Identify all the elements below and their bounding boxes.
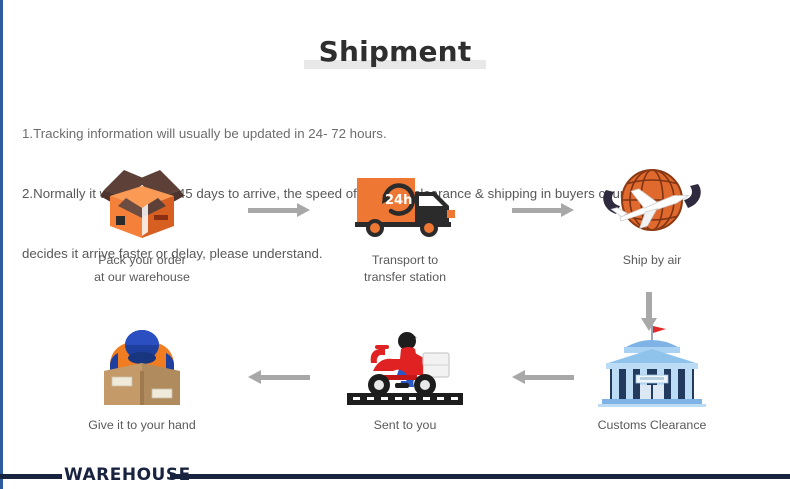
step-caption-line-1: Give it to your hand (52, 417, 232, 434)
step-caption: Ship by air (562, 252, 742, 269)
globe-airplane-icon (562, 160, 742, 242)
svg-text:24h: 24h (385, 193, 412, 208)
page-title-block: Shipment (0, 32, 790, 76)
arrow-right-step1-to-step2 (248, 203, 310, 217)
step-caption-line-1: Pack your order (52, 252, 232, 269)
arrow-left-step5-to-step6 (248, 370, 310, 384)
step-caption: Sent to you (315, 417, 495, 434)
step-transport-transfer-station: 24h Transport to transfer station (315, 160, 495, 286)
warehouse-label: WAREHOUSE (64, 462, 168, 488)
step-caption: Transport to transfer station (315, 252, 495, 286)
warehouse-banner: WAREHOUSE (0, 462, 790, 489)
step-customs-clearance: Customs Clearance (562, 325, 742, 434)
banner-rule-right (170, 474, 790, 479)
step-caption: Give it to your hand (52, 417, 232, 434)
step-pack-order: Pack your order at our warehouse (52, 160, 232, 286)
step-caption-line-1: Customs Clearance (562, 417, 742, 434)
arrow-down-step3-to-step4 (641, 292, 657, 332)
arrow-left-step4-to-step5 (512, 370, 574, 384)
step-ship-by-air: Ship by air (562, 160, 742, 269)
step-caption-line-1: Sent to you (315, 417, 495, 434)
banner-rule-left (0, 474, 62, 479)
customs-building-icon (562, 325, 742, 407)
open-cardboard-box-icon (52, 160, 232, 242)
step-caption-line-2: at our warehouse (52, 269, 232, 286)
shipment-infographic: Shipment 1.Tracking information will usu… (0, 0, 790, 489)
steps-row-bottom: Give it to your hand (0, 325, 790, 455)
step-caption-line-1: Transport to (315, 252, 495, 269)
shipping-note-1: 1.Tracking information will usually be u… (22, 124, 768, 144)
step-caption-line-2: transfer station (315, 269, 495, 286)
delivery-truck-24h-icon: 24h (315, 160, 495, 242)
step-sent-to-you: Sent to you (315, 325, 495, 434)
steps-row-top: Pack your order at our warehouse (0, 160, 790, 290)
arrow-right-step2-to-step3 (512, 203, 574, 217)
page-title: Shipment (319, 32, 472, 72)
step-give-to-your-hand: Give it to your hand (52, 325, 232, 434)
step-caption: Pack your order at our warehouse (52, 252, 232, 286)
step-caption-line-1: Ship by air (562, 252, 742, 269)
step-caption: Customs Clearance (562, 417, 742, 434)
scooter-courier-icon (315, 325, 495, 407)
courier-handing-parcel-icon (52, 325, 232, 407)
